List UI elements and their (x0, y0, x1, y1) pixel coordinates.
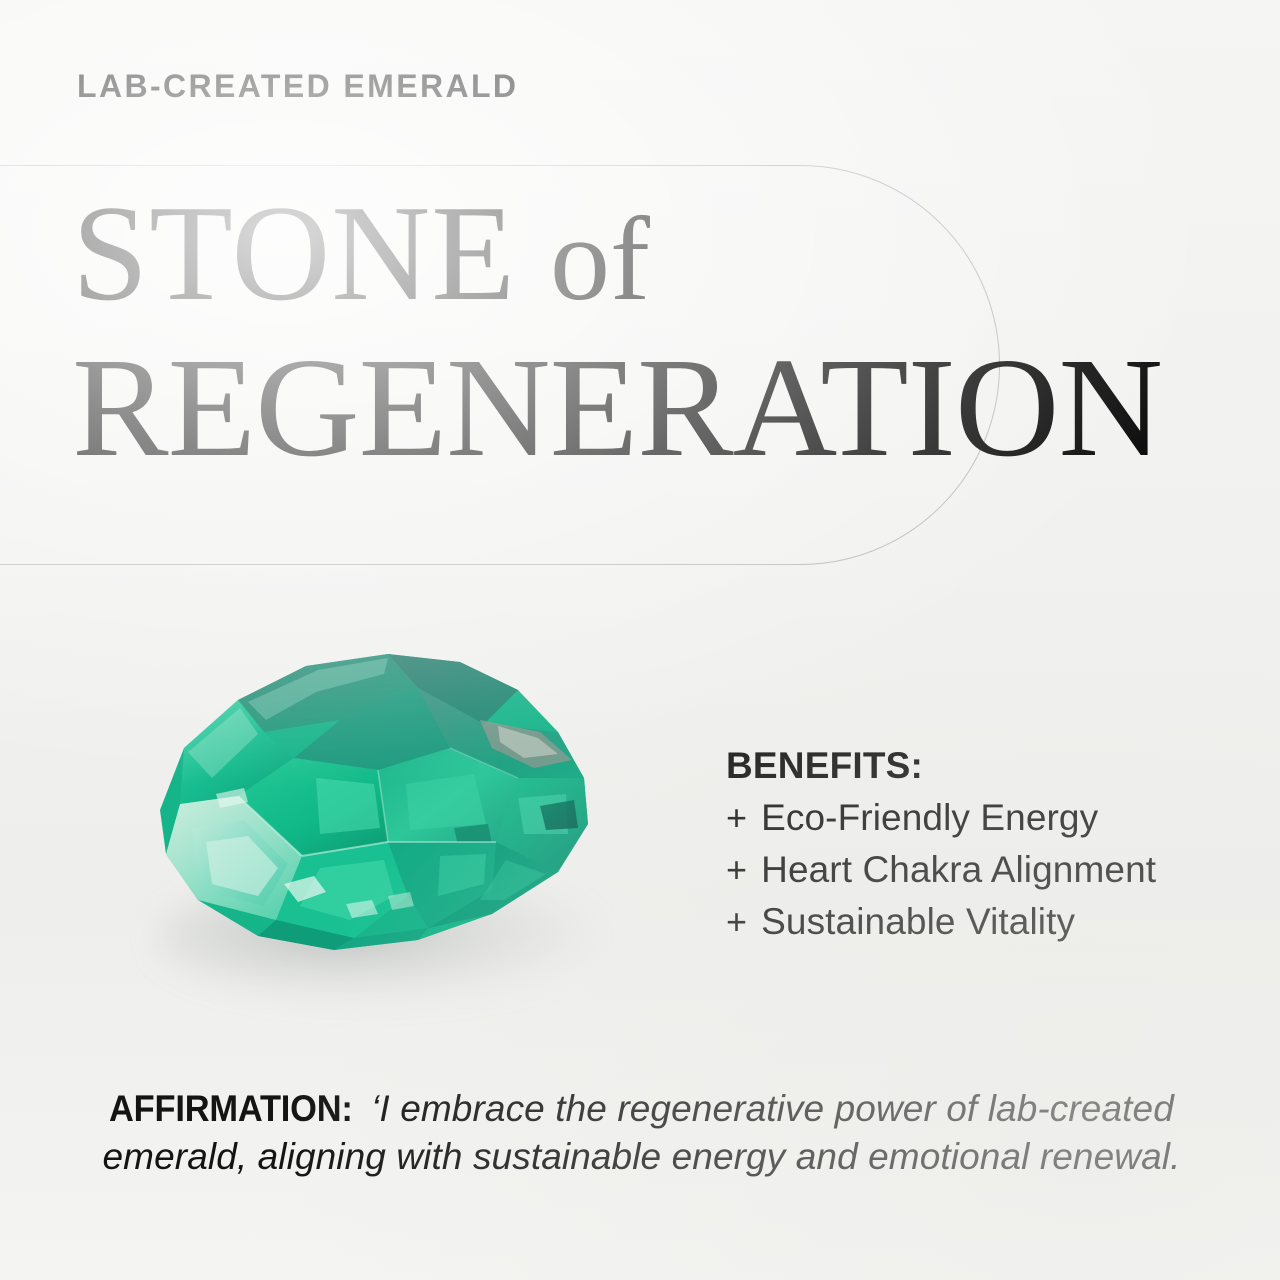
headline-line-2: REGENERATION (72, 336, 1235, 478)
plus-icon: + (726, 849, 747, 891)
benefit-item: + Sustainable Vitality (726, 901, 1156, 943)
benefit-item: + Heart Chakra Alignment (726, 849, 1156, 891)
hero-gemstone (88, 628, 608, 1028)
emerald-crystal-icon (88, 628, 608, 968)
headline-word-of: of (516, 192, 650, 325)
affirmation-label: AFFIRMATION: (109, 1085, 353, 1133)
category-eyebrow: LAB-CREATED EMERALD (77, 68, 518, 105)
benefits-section: BENEFITS: + Eco-Friendly Energy + Heart … (726, 745, 1156, 943)
plus-icon: + (726, 797, 747, 839)
plus-icon: + (726, 901, 747, 943)
benefit-label: Sustainable Vitality (761, 901, 1075, 943)
benefit-item: + Eco-Friendly Energy (726, 797, 1156, 839)
affirmation-section: AFFIRMATION:‘I embrace the regenerative … (64, 1085, 1219, 1181)
poster-canvas: LAB-CREATED EMERALD STONEof REGENERATION (0, 0, 1280, 1280)
benefits-heading: BENEFITS: (726, 745, 1156, 787)
page-title: STONEof REGENERATION (72, 186, 1212, 478)
benefit-label: Eco-Friendly Energy (761, 797, 1098, 839)
benefit-label: Heart Chakra Alignment (761, 849, 1156, 891)
headline-word-stone: STONE (72, 177, 516, 329)
headline-line-1: STONEof (72, 186, 1212, 320)
